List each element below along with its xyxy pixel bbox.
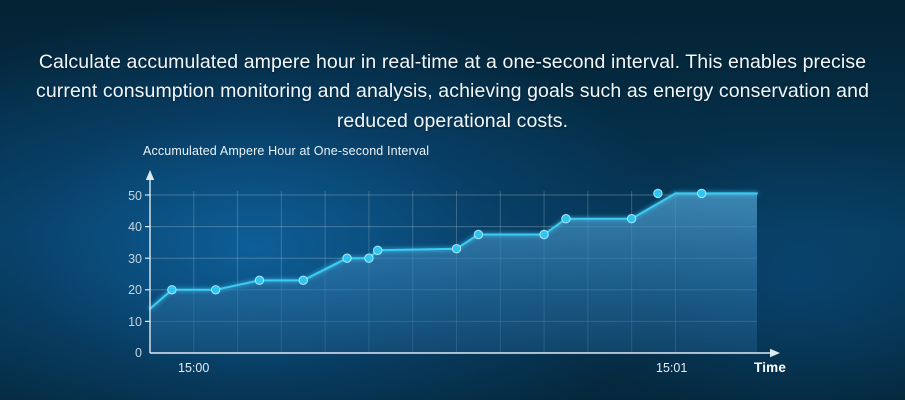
series-area-fill [150, 193, 757, 353]
plot-area [0, 0, 905, 400]
accumulated-ampere-hour-chart: Accumulated Ampere Hour at One-second In… [0, 0, 905, 400]
slide-canvas: Calculate accumulated ampere hour in rea… [0, 0, 905, 400]
